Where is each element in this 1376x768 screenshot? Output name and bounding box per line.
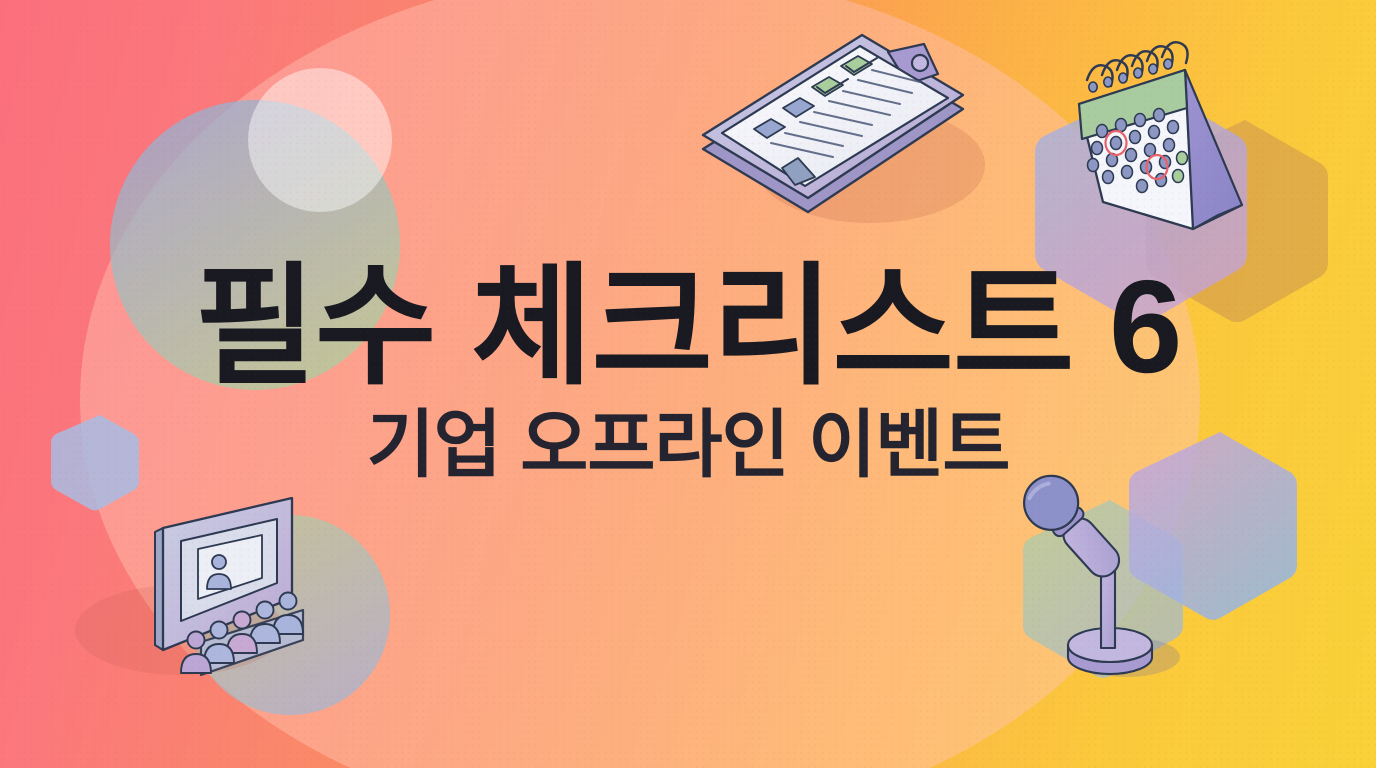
presentation-illustration	[155, 498, 303, 675]
clipboard-clip-ring	[912, 55, 928, 71]
mic-handle-group	[1013, 465, 1133, 590]
mic-stem	[1101, 566, 1115, 648]
event-banner: 필수 체크리스트 6 기업 오프라인 이벤트	[0, 0, 1376, 768]
clipboard-illustration	[703, 35, 985, 223]
microphone-illustration	[1013, 465, 1180, 677]
screen-frame-edge	[155, 528, 163, 650]
illustrations	[0, 0, 1376, 768]
calendar-illustration	[1079, 42, 1242, 229]
